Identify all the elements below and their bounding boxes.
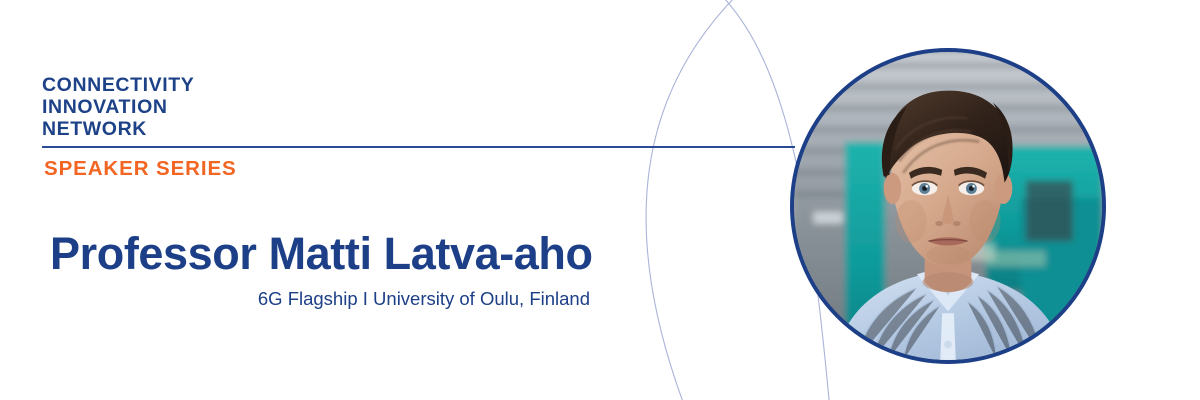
logo-line-1: CONNECTIVITY bbox=[42, 74, 662, 96]
logo-line-2: INNOVATION bbox=[42, 96, 662, 118]
network-logo: CONNECTIVITY INNOVATION NETWORK bbox=[42, 74, 662, 140]
decorative-arc-outer bbox=[646, 0, 742, 400]
speaker-affiliation: 6G Flagship I University of Oulu, Finlan… bbox=[50, 288, 590, 310]
speaker-series-banner: CONNECTIVITY INNOVATION NETWORK SPEAKER … bbox=[0, 0, 1200, 400]
speaker-series-label: SPEAKER SERIES bbox=[44, 157, 237, 181]
speaker-portrait bbox=[790, 48, 1106, 364]
portrait-photo bbox=[794, 52, 1102, 360]
speaker-name: Professor Matti Latva-aho bbox=[50, 228, 593, 280]
logo-line-3: NETWORK bbox=[42, 118, 662, 140]
logo-divider-rule bbox=[42, 146, 795, 148]
